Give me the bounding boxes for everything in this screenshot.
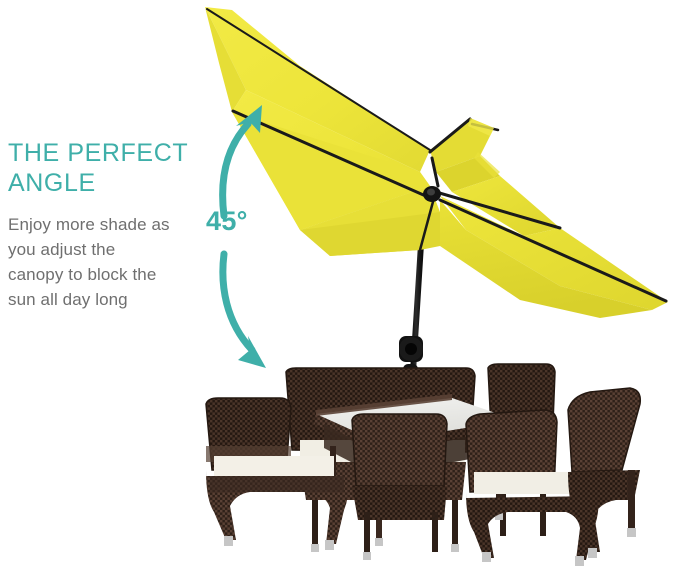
angle-indicator: 45° [198, 88, 308, 383]
chair-left [206, 398, 349, 550]
umbrella-crank [399, 336, 423, 382]
callout-subcopy: Enjoy more shade as you adjust the canop… [8, 212, 218, 312]
chair-front-center [352, 414, 447, 560]
dining-set [206, 364, 640, 566]
chair-front-right [466, 410, 599, 566]
angle-value-label: 45° [206, 206, 248, 237]
chair-back-left [286, 368, 475, 552]
canopy-hub [423, 186, 441, 202]
callout-text-block: THE PERFECT ANGLE Enjoy more shade as yo… [8, 138, 218, 312]
product-marketing-image: THE PERFECT ANGLE Enjoy more shade as yo… [0, 0, 679, 584]
chair-right [568, 388, 640, 558]
chair-back-right [488, 364, 555, 536]
patio-table [314, 394, 516, 546]
umbrella-pole [399, 189, 433, 470]
page-title: THE PERFECT ANGLE [8, 138, 218, 198]
